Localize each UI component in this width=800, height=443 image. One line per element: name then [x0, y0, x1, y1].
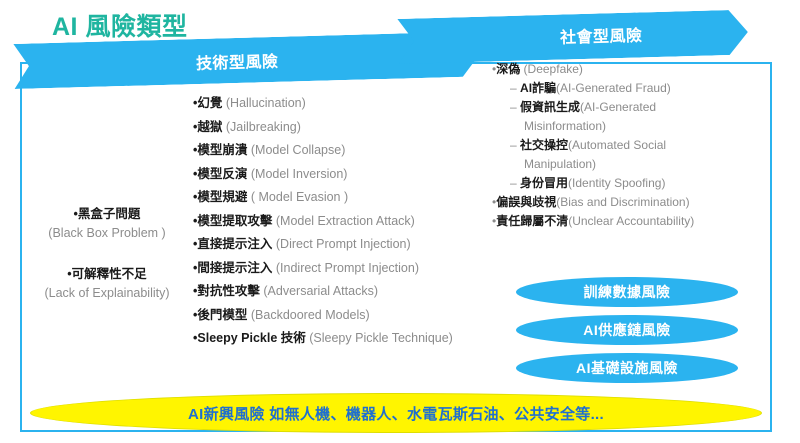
emerging-risk-banner[interactable]: AI新興風險 如無人機、機器人、水電瓦斯石油、公共安全等...	[30, 393, 762, 433]
technical-risk-list: •幻覺 (Hallucination) •越獄 (Jailbreaking) •…	[193, 92, 493, 351]
pill-training-data-risk[interactable]: 訓練數據風險	[516, 277, 738, 307]
bullet-en: (Indirect Prompt Injection)	[276, 261, 419, 275]
dash-icon: –	[510, 100, 517, 114]
left-item-en: (Lack of Explainability)	[24, 284, 190, 303]
bullet-en: (Jailbreaking)	[226, 120, 301, 134]
social-risk-list: •深偽 (Deepfake) – AI詐騙(AI-Generated Fraud…	[492, 60, 767, 231]
bullet-en: (Deepfake)	[524, 62, 583, 76]
bullet-en: (Automated Social	[568, 138, 666, 152]
left-risk-column: •黑盒子問題 (Black Box Problem ) •可解釋性不足 (Lac…	[24, 205, 190, 325]
left-item-zh: •可解釋性不足	[24, 265, 190, 284]
bullet-en: (Direct Prompt Injection)	[276, 237, 411, 251]
list-item: •幻覺 (Hallucination)	[193, 92, 493, 116]
bullet-en: (Model Extraction Attack)	[276, 214, 415, 228]
bullet-en-cont: Misinformation)	[510, 117, 767, 136]
dash-icon: –	[510, 138, 517, 152]
bullet-en: (Adversarial Attacks)	[263, 284, 378, 298]
bullet-zh: 假資訊生成	[520, 100, 580, 114]
list-item: •責任歸屬不清(Unclear Accountability)	[492, 212, 767, 231]
dash-icon: –	[510, 81, 517, 95]
list-item: •模型崩潰 (Model Collapse)	[193, 139, 493, 163]
bullet-en: (AI-Generated Fraud)	[556, 81, 671, 95]
dash-icon: –	[510, 176, 517, 190]
slide-canvas: AI 風險類型 技術型風險 社會型風險 •黑盒子問題 (Black Box Pr…	[0, 0, 800, 443]
pill-ai-infrastructure-risk[interactable]: AI基礎設施風險	[516, 353, 738, 383]
bullet-en: (Sleepy Pickle Technique)	[309, 331, 453, 345]
bullet-zh: 幻覺	[197, 96, 225, 110]
left-item-en: (Black Box Problem )	[24, 224, 190, 243]
bullet-zh: 後門模型	[197, 308, 250, 322]
list-item: •黑盒子問題 (Black Box Problem )	[24, 205, 190, 243]
left-item-zh: •黑盒子問題	[24, 205, 190, 224]
bullet-zh: Sleepy Pickle 技術	[197, 331, 309, 345]
pill-label: AI供應鏈風險	[583, 320, 671, 340]
list-item: – 假資訊生成(AI-GeneratedMisinformation)	[492, 98, 767, 136]
bullet-zh: 模型反演	[197, 167, 250, 181]
list-item: •可解釋性不足 (Lack of Explainability)	[24, 265, 190, 303]
bullet-en: (Backdoored Models)	[251, 308, 370, 322]
list-item: •Sleepy Pickle 技術 (Sleepy Pickle Techniq…	[193, 327, 493, 351]
pill-ai-supply-chain-risk[interactable]: AI供應鏈風險	[516, 315, 738, 345]
list-item: – 社交操控(Automated SocialManipulation)	[492, 136, 767, 174]
bullet-en: (Bias and Discrimination)	[556, 195, 689, 209]
list-item: •間接提示注入 (Indirect Prompt Injection)	[193, 257, 493, 281]
list-item: •後門模型 (Backdoored Models)	[193, 304, 493, 328]
bullet-zh: 模型崩潰	[197, 143, 250, 157]
bullet-zh: 身份冒用	[520, 176, 568, 190]
bullet-en-cont: Manipulation)	[510, 155, 767, 174]
bullet-zh: 責任歸屬不清	[496, 214, 568, 228]
bullet-zh: 直接提示注入	[197, 237, 275, 251]
bullet-zh: 間接提示注入	[197, 261, 275, 275]
list-item: •模型提取攻擊 (Model Extraction Attack)	[193, 210, 493, 234]
bullet-zh: 深偽	[496, 62, 523, 76]
list-item: – 身份冒用(Identity Spoofing)	[492, 174, 767, 193]
list-item: •越獄 (Jailbreaking)	[193, 116, 493, 140]
bullet-en: (Model Inversion)	[251, 167, 348, 181]
pill-label: 訓練數據風險	[584, 282, 671, 302]
bullet-en: (AI-Generated	[580, 100, 656, 114]
list-item: •對抗性攻擊 (Adversarial Attacks)	[193, 280, 493, 304]
bullet-en: ( Model Evasion )	[251, 190, 348, 204]
bullet-en: (Unclear Accountability)	[568, 214, 694, 228]
bullet-zh: 模型規避	[197, 190, 250, 204]
bullet-zh: 偏誤與歧視	[496, 195, 556, 209]
band-label-social-risk: 社會型風險	[560, 22, 643, 48]
list-item: – AI詐騙(AI-Generated Fraud)	[492, 79, 767, 98]
bullet-en: (Identity Spoofing)	[568, 176, 665, 190]
bullet-zh: AI詐騙	[520, 81, 556, 95]
bullet-en: (Model Collapse)	[251, 143, 345, 157]
bullet-zh: 越獄	[197, 120, 225, 134]
list-item: •偏誤與歧視(Bias and Discrimination)	[492, 193, 767, 212]
list-item: •深偽 (Deepfake)	[492, 60, 767, 79]
list-item: •直接提示注入 (Direct Prompt Injection)	[193, 233, 493, 257]
pill-label: AI基礎設施風險	[576, 358, 678, 378]
bullet-zh: 模型提取攻擊	[197, 214, 275, 228]
emerging-risk-banner-label: AI新興風險 如無人機、機器人、水電瓦斯石油、公共安全等...	[188, 403, 604, 424]
band-label-technical-risk: 技術型風險	[196, 48, 279, 74]
bullet-en: (Hallucination)	[226, 96, 306, 110]
list-item: •模型反演 (Model Inversion)	[193, 163, 493, 187]
bullet-zh: 社交操控	[520, 138, 568, 152]
list-item: •模型規避 ( Model Evasion )	[193, 186, 493, 210]
bullet-zh: 對抗性攻擊	[197, 284, 263, 298]
